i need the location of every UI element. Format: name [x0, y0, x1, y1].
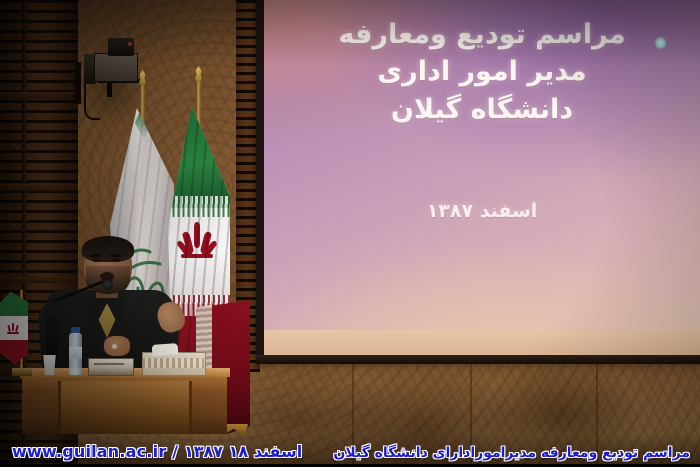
microphone-icon	[102, 278, 113, 290]
speaker-eyebrow-left	[90, 254, 101, 257]
speaker-eye-right	[112, 258, 120, 262]
camera-bracket	[75, 62, 81, 104]
speaker-eyebrow-right	[110, 254, 121, 257]
screen-glare-spot	[655, 36, 666, 50]
book-spine-line	[94, 363, 124, 365]
tissue-box-pattern	[142, 358, 204, 368]
speaker-hair	[82, 236, 134, 262]
camera-body	[94, 53, 138, 82]
desk-flag-emblem-icon	[6, 322, 20, 334]
microphone-base	[46, 314, 58, 362]
desk-flag-base	[12, 368, 32, 376]
tissue-sheet	[152, 343, 179, 356]
event-photograph: مراسم تودیع ومعارفه مدیر امور اداری دانش…	[0, 0, 700, 467]
screen-bottom-bar	[256, 355, 700, 364]
speaker-eye-left	[92, 258, 100, 262]
speaker-ring	[112, 344, 117, 349]
screen-lower-band	[264, 330, 700, 356]
desk-front-panel	[58, 381, 192, 434]
book-on-desk	[88, 358, 134, 376]
camera-lens-head-icon	[108, 38, 134, 56]
projection-screen	[264, 0, 700, 352]
camera-cable	[84, 82, 100, 120]
camera-led-icon	[128, 42, 132, 46]
iran-desk-flag	[0, 292, 28, 364]
speaker-resting-hand	[104, 336, 130, 356]
water-bottle-label	[69, 347, 82, 359]
